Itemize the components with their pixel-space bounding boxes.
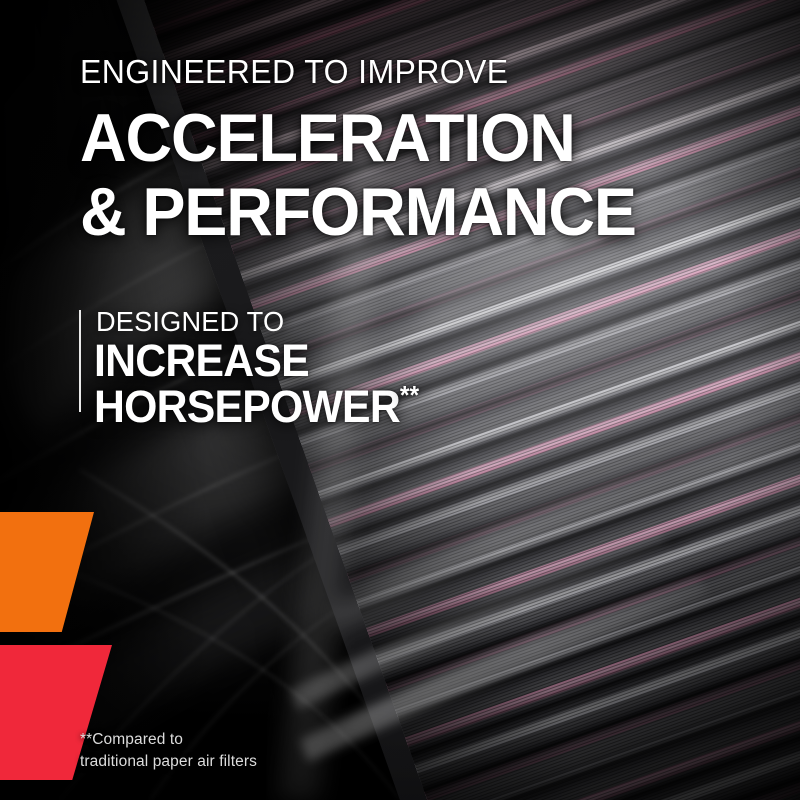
subhead-vertical-rule (79, 310, 81, 412)
subhead-line-2: HORSEPOWER** (94, 382, 419, 429)
subhead-eyebrow: DESIGNED TO (96, 308, 284, 336)
headline-line-2: & PERFORMANCE (80, 178, 636, 246)
footnote-marker: ** (400, 380, 419, 410)
footnote-line-1: **Compared to (80, 729, 257, 751)
headline-eyebrow: ENGINEERED TO IMPROVE (80, 55, 509, 88)
subhead-line-1: INCREASE (94, 338, 309, 383)
marketing-copy: ENGINEERED TO IMPROVE ACCELERATION & PER… (0, 0, 800, 800)
footnote-text: **Compared to traditional paper air filt… (80, 729, 257, 773)
headline-line-1: ACCELERATION (80, 104, 575, 172)
marketing-banner: ENGINEERED TO IMPROVE ACCELERATION & PER… (0, 0, 800, 800)
subhead-line-2-text: HORSEPOWER (94, 381, 400, 432)
footnote-line-2: traditional paper air filters (80, 751, 257, 773)
